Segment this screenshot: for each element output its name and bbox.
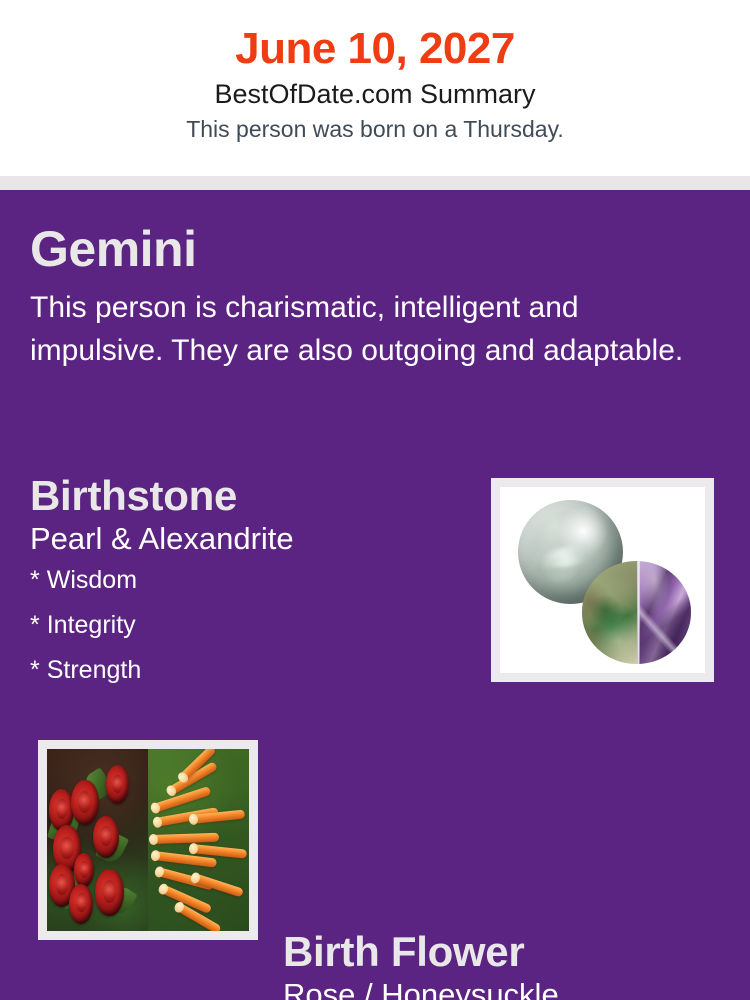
alexandrite-seam — [637, 561, 639, 663]
trait-label: Integrity — [47, 611, 136, 639]
birthstone-names: Pearl & Alexandrite — [30, 518, 470, 557]
birthstone-image-frame — [491, 478, 714, 682]
summary-card: June 10, 2027 BestOfDate.com Summary Thi… — [0, 0, 750, 1000]
birth-flower-photo — [47, 749, 249, 931]
zodiac-section: Gemini This person is charismatic, intel… — [30, 223, 710, 373]
bullet-icon: * — [30, 658, 47, 683]
list-item: *Strength — [30, 658, 470, 703]
zodiac-description: This person is charismatic, intelligent … — [30, 276, 700, 373]
birth-flower-title: Birth Flower — [283, 929, 743, 974]
site-name: BestOfDate.com Summary — [0, 72, 750, 110]
roses-half — [47, 749, 148, 931]
trait-label: Wisdom — [47, 566, 137, 594]
bullet-icon: * — [30, 613, 47, 638]
birth-flower-names: Rose / Honeysuckle — [283, 974, 743, 1000]
bullet-icon: * — [30, 568, 47, 593]
zodiac-sign-name: Gemini — [30, 223, 710, 276]
list-item: *Wisdom — [30, 568, 470, 613]
birthstone-photo — [500, 487, 705, 673]
card-header: June 10, 2027 BestOfDate.com Summary Thi… — [0, 0, 750, 176]
alexandrite-faceted-half — [639, 561, 691, 663]
list-item: *Integrity — [30, 613, 470, 658]
honeysuckle-half — [148, 749, 249, 931]
birth-flower-section: Birth Flower Rose / Honeysuckle *Romance… — [283, 929, 743, 1000]
alexandrite-gem — [582, 561, 691, 663]
page-title: June 10, 2027 — [0, 0, 750, 72]
alexandrite-rough-half — [582, 561, 638, 663]
trait-label: Strength — [47, 656, 142, 684]
birthstone-title: Birthstone — [30, 473, 470, 518]
header-divider — [0, 176, 750, 190]
weekday-note: This person was born on a Thursday. — [0, 111, 750, 144]
birthstone-trait-list: *Wisdom *Integrity *Strength — [30, 558, 470, 703]
birth-flower-image-frame — [38, 740, 258, 940]
birthstone-section: Birthstone Pearl & Alexandrite *Wisdom *… — [30, 473, 470, 703]
